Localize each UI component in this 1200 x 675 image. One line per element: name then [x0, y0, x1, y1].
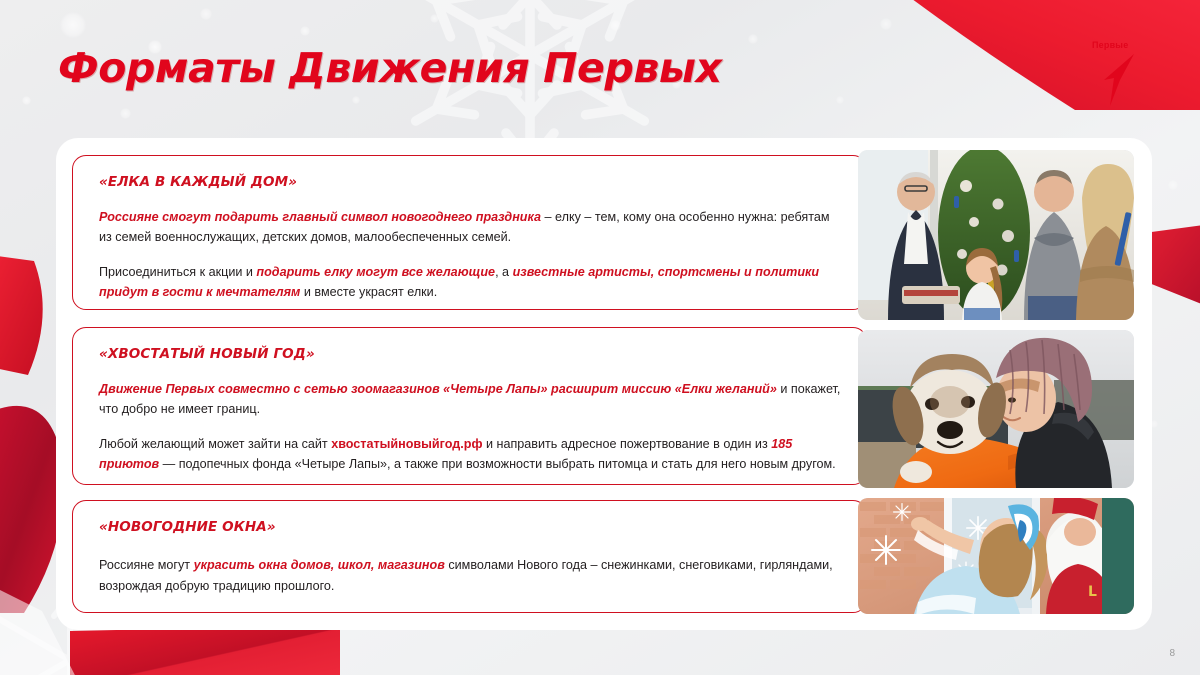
snow-particle	[836, 96, 844, 104]
format-card-hvostatyy-novyy-god[interactable]: «ХВОСТАТЫЙ НОВЫЙ ГОД» Движение Первых со…	[72, 327, 867, 485]
arrow-up-icon	[1096, 52, 1140, 108]
snow-particle	[210, 640, 220, 650]
card-heading: «НОВОГОДНИЕ ОКНА»	[99, 519, 842, 535]
card-paragraph: Россияне смогут подарить главный символ …	[99, 207, 842, 248]
brand-logo-label: Первые	[1092, 40, 1128, 50]
photo-woman-hugging-dog	[858, 330, 1134, 488]
format-card-novogodnie-okna[interactable]: «НОВОГОДНИЕ ОКНА» Россияне могут украсит…	[72, 500, 867, 613]
photo-gift-handover-christmas-tree	[858, 150, 1134, 320]
photo-girl-decorating-window: L	[858, 498, 1134, 614]
card-paragraph: Россияне могут украсить окна домов, школ…	[99, 555, 842, 597]
svg-text:L: L	[1088, 584, 1097, 600]
snow-particle	[430, 14, 439, 23]
snow-particle	[16, 430, 24, 438]
card-heading: «ХВОСТАТЫЙ НОВЫЙ ГОД»	[99, 346, 842, 362]
snow-particle	[748, 34, 758, 44]
ribbon-bottom-left	[70, 625, 340, 675]
card-paragraph: Присоединиться к акции и подарить елку м…	[99, 262, 842, 303]
card-paragraph: Движение Первых совместно с сетью зоомаг…	[99, 379, 842, 420]
snow-particle	[44, 520, 53, 529]
snow-particle	[120, 108, 131, 119]
ribbon-right-edge	[1144, 225, 1200, 305]
snow-particle	[200, 8, 212, 20]
website-link[interactable]: хвостатыйновыйгод.рф	[331, 437, 482, 451]
ribbon-left-upper	[0, 255, 60, 375]
page-title: Форматы Движения Первых	[58, 44, 722, 92]
snow-particle	[22, 96, 31, 105]
snow-particle	[60, 12, 86, 38]
card-heading: «ЕЛКА В КАЖДЫЙ ДОМ»	[99, 174, 842, 190]
snow-particle	[30, 300, 40, 310]
snow-particle	[610, 20, 621, 31]
card-paragraph: Любой желающий может зайти на сайт хвост…	[99, 434, 842, 475]
snow-particle	[300, 26, 310, 36]
snow-particle	[352, 96, 360, 104]
brand-logo: Первые	[1084, 40, 1160, 110]
format-card-elka-v-kazhdyy-dom[interactable]: «ЕЛКА В КАЖДЫЙ ДОМ» Россияне смогут пода…	[72, 155, 867, 310]
slide: Форматы Движения Первых Первые «ЕЛКА В К…	[0, 0, 1200, 675]
snow-particle	[880, 18, 892, 30]
snow-particle	[1168, 180, 1178, 190]
page-number: 8	[1169, 648, 1175, 659]
